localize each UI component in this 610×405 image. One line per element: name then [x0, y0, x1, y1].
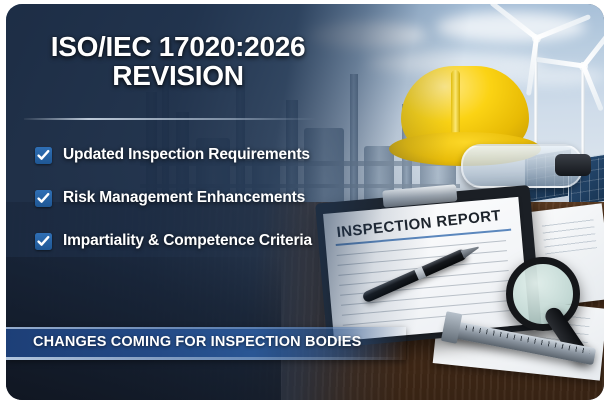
page-title: ISO/IEC 17020:2026 REVISION	[28, 32, 328, 91]
title-divider	[24, 118, 316, 120]
list-item-label: Risk Management Enhancements	[63, 189, 305, 207]
poster-card: INSPECTION REPORT ISO/IEC 17020:2026 REV…	[6, 4, 604, 400]
bottom-ribbon: CHANGES COMING FOR INSPECTION BODIES	[6, 327, 406, 360]
list-item: Risk Management Enhancements	[35, 181, 355, 215]
list-item: Impartiality & Competence Criteria	[35, 224, 355, 258]
list-item: Updated Inspection Requirements	[35, 138, 355, 172]
list-item-label: Updated Inspection Requirements	[63, 146, 310, 164]
list-item-label: Impartiality & Competence Criteria	[63, 232, 312, 250]
title-line-1: ISO/IEC 17020:2026	[51, 31, 306, 62]
check-icon	[35, 190, 52, 207]
check-icon	[35, 233, 52, 250]
poster-content: ISO/IEC 17020:2026 REVISION Updated Insp…	[6, 4, 604, 400]
bullet-list: Updated Inspection Requirements Risk Man…	[35, 138, 355, 267]
ribbon-label: CHANGES COMING FOR INSPECTION BODIES	[33, 334, 361, 350]
title-line-2: REVISION	[28, 61, 328, 90]
check-icon	[35, 147, 52, 164]
